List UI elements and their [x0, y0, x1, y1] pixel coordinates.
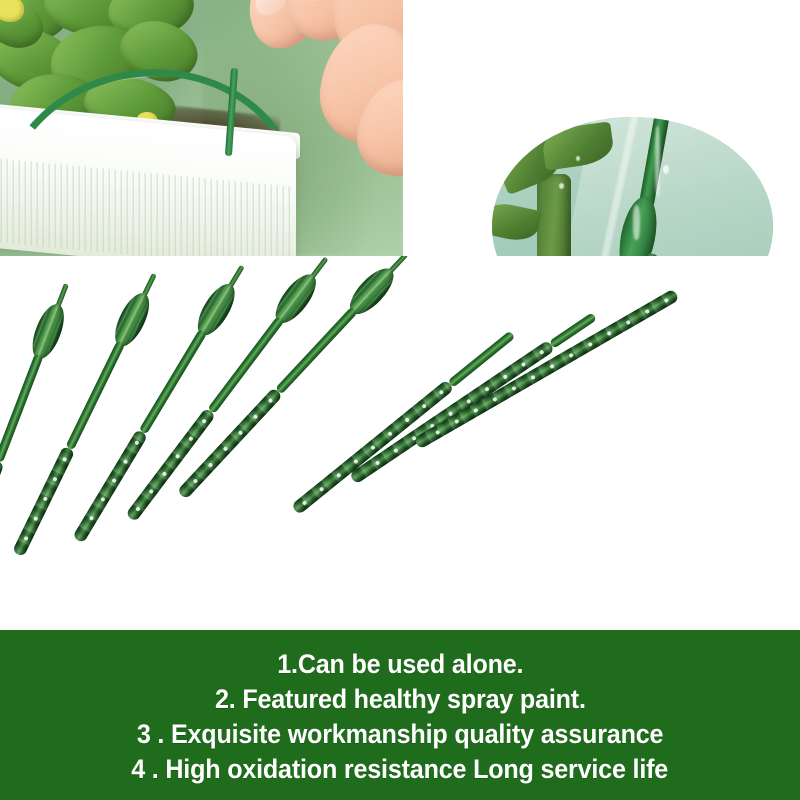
hand: [229, 0, 403, 174]
stake-leaf-tip: [26, 300, 70, 363]
closeup-highlight: [655, 126, 660, 196]
feature-line-1: 1.Can be used alone.: [277, 647, 523, 682]
feature-line-4: 4 . High oxidation resistance Long servi…: [132, 752, 669, 787]
stake-beaded-shaft: [72, 429, 148, 544]
plant-stake: [292, 331, 515, 514]
closeup-highlight: [633, 205, 640, 240]
stake-upper-shaft: [65, 340, 125, 450]
product-fan-photo: [0, 256, 800, 630]
stake-beaded-shaft: [12, 446, 75, 558]
stake-beaded-shaft: [0, 459, 4, 566]
plant-stake: [414, 290, 678, 448]
stake-beaded-shaft: [413, 288, 679, 449]
product-image-page: 1.Can be used alone. 2. Featured healthy…: [0, 0, 800, 800]
lifestyle-photo: [0, 0, 403, 256]
feature-banner: 1.Can be used alone. 2. Featured healthy…: [0, 630, 800, 800]
feature-line-3: 3 . Exquisite workmanship quality assura…: [137, 717, 663, 752]
plant-stake: [350, 312, 597, 483]
feature-line-2: 2. Featured healthy spray paint.: [215, 682, 586, 717]
stake-upper-shaft: [0, 353, 43, 463]
